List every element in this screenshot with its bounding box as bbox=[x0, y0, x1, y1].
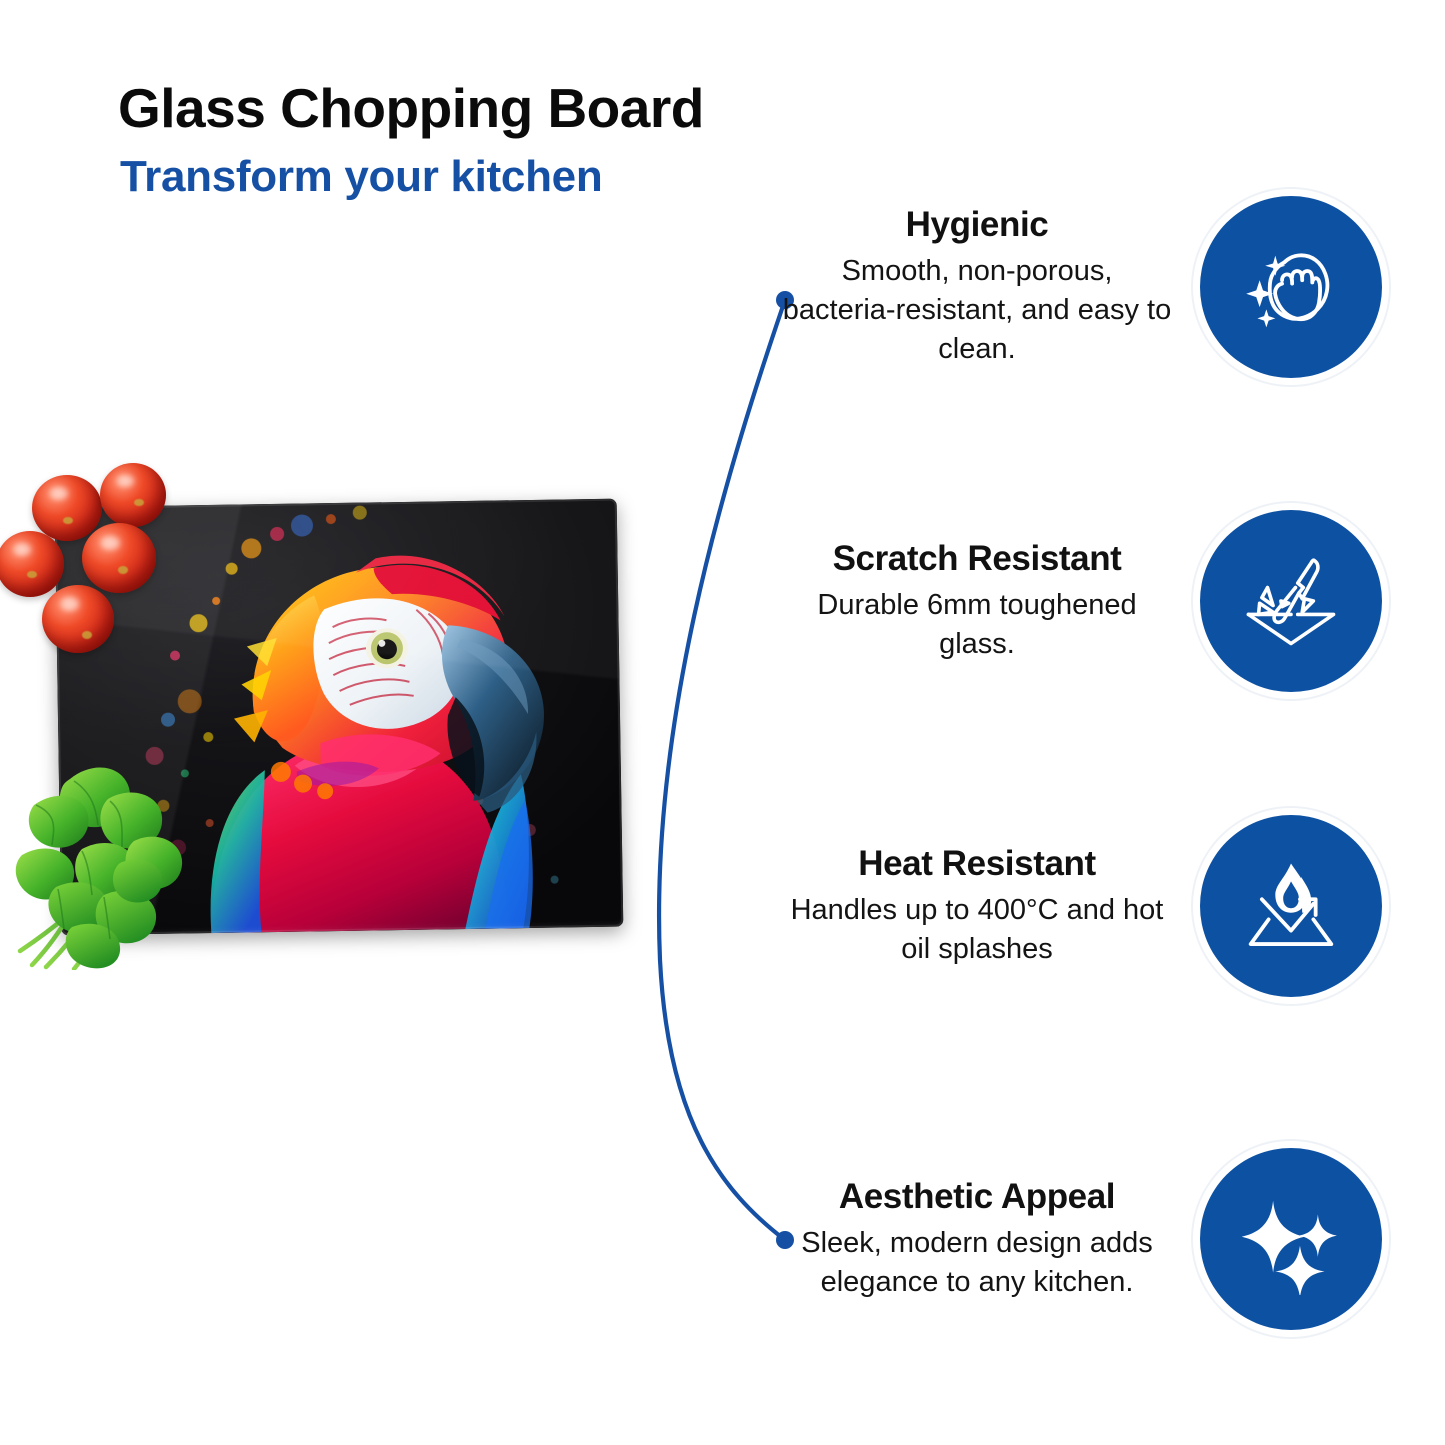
feature-description: Smooth, non-porous, bacteria-resistant, … bbox=[782, 252, 1172, 369]
feature-aesthetic-appeal: Aesthetic Appeal Sleek, modern design ad… bbox=[782, 1148, 1382, 1330]
page-subtitle: Transform your kitchen bbox=[120, 152, 602, 202]
tomato bbox=[0, 531, 64, 597]
tomato bbox=[32, 475, 102, 541]
feature-heat-resistant: Heat Resistant Handles up to 400°C and h… bbox=[782, 815, 1382, 997]
tomato bbox=[42, 585, 114, 653]
feature-description: Sleek, modern design adds elegance to an… bbox=[782, 1224, 1172, 1302]
infographic-canvas: Glass Chopping Board Transform your kitc… bbox=[0, 0, 1445, 1445]
feature-title: Scratch Resistant bbox=[782, 539, 1172, 579]
tomato bbox=[100, 463, 166, 527]
flame-heat-deflect-icon bbox=[1235, 850, 1347, 962]
parsley-garnish bbox=[12, 755, 212, 970]
knife-impact-surface-icon bbox=[1235, 545, 1347, 657]
feature-hygienic: Hygienic Smooth, non-porous, bacteria-re… bbox=[782, 196, 1382, 378]
feature-icon-badge[interactable] bbox=[1200, 1148, 1382, 1330]
feature-description: Handles up to 400°C and hot oil splashes bbox=[782, 891, 1172, 969]
feature-icon-badge[interactable] bbox=[1200, 815, 1382, 997]
feature-icon-badge[interactable] bbox=[1200, 510, 1382, 692]
feature-text-block: Aesthetic Appeal Sleek, modern design ad… bbox=[782, 1177, 1172, 1302]
hand-wiping-sparkle-icon bbox=[1235, 231, 1347, 343]
feature-text-block: Heat Resistant Handles up to 400°C and h… bbox=[782, 844, 1172, 969]
connector-curve bbox=[600, 260, 920, 1260]
feature-text-block: Hygienic Smooth, non-porous, bacteria-re… bbox=[782, 205, 1172, 369]
page-title: Glass Chopping Board bbox=[118, 76, 704, 140]
feature-title: Heat Resistant bbox=[782, 844, 1172, 884]
feature-text-block: Scratch Resistant Durable 6mm toughened … bbox=[782, 539, 1172, 664]
tomato bbox=[82, 523, 156, 593]
feature-icon-badge[interactable] bbox=[1200, 196, 1382, 378]
product-image-group bbox=[10, 455, 630, 975]
sparkles-icon bbox=[1235, 1183, 1347, 1295]
feature-scratch-resistant: Scratch Resistant Durable 6mm toughened … bbox=[782, 510, 1382, 692]
feature-description: Durable 6mm toughened glass. bbox=[782, 586, 1172, 664]
feature-title: Aesthetic Appeal bbox=[782, 1177, 1172, 1217]
feature-title: Hygienic bbox=[782, 205, 1172, 245]
